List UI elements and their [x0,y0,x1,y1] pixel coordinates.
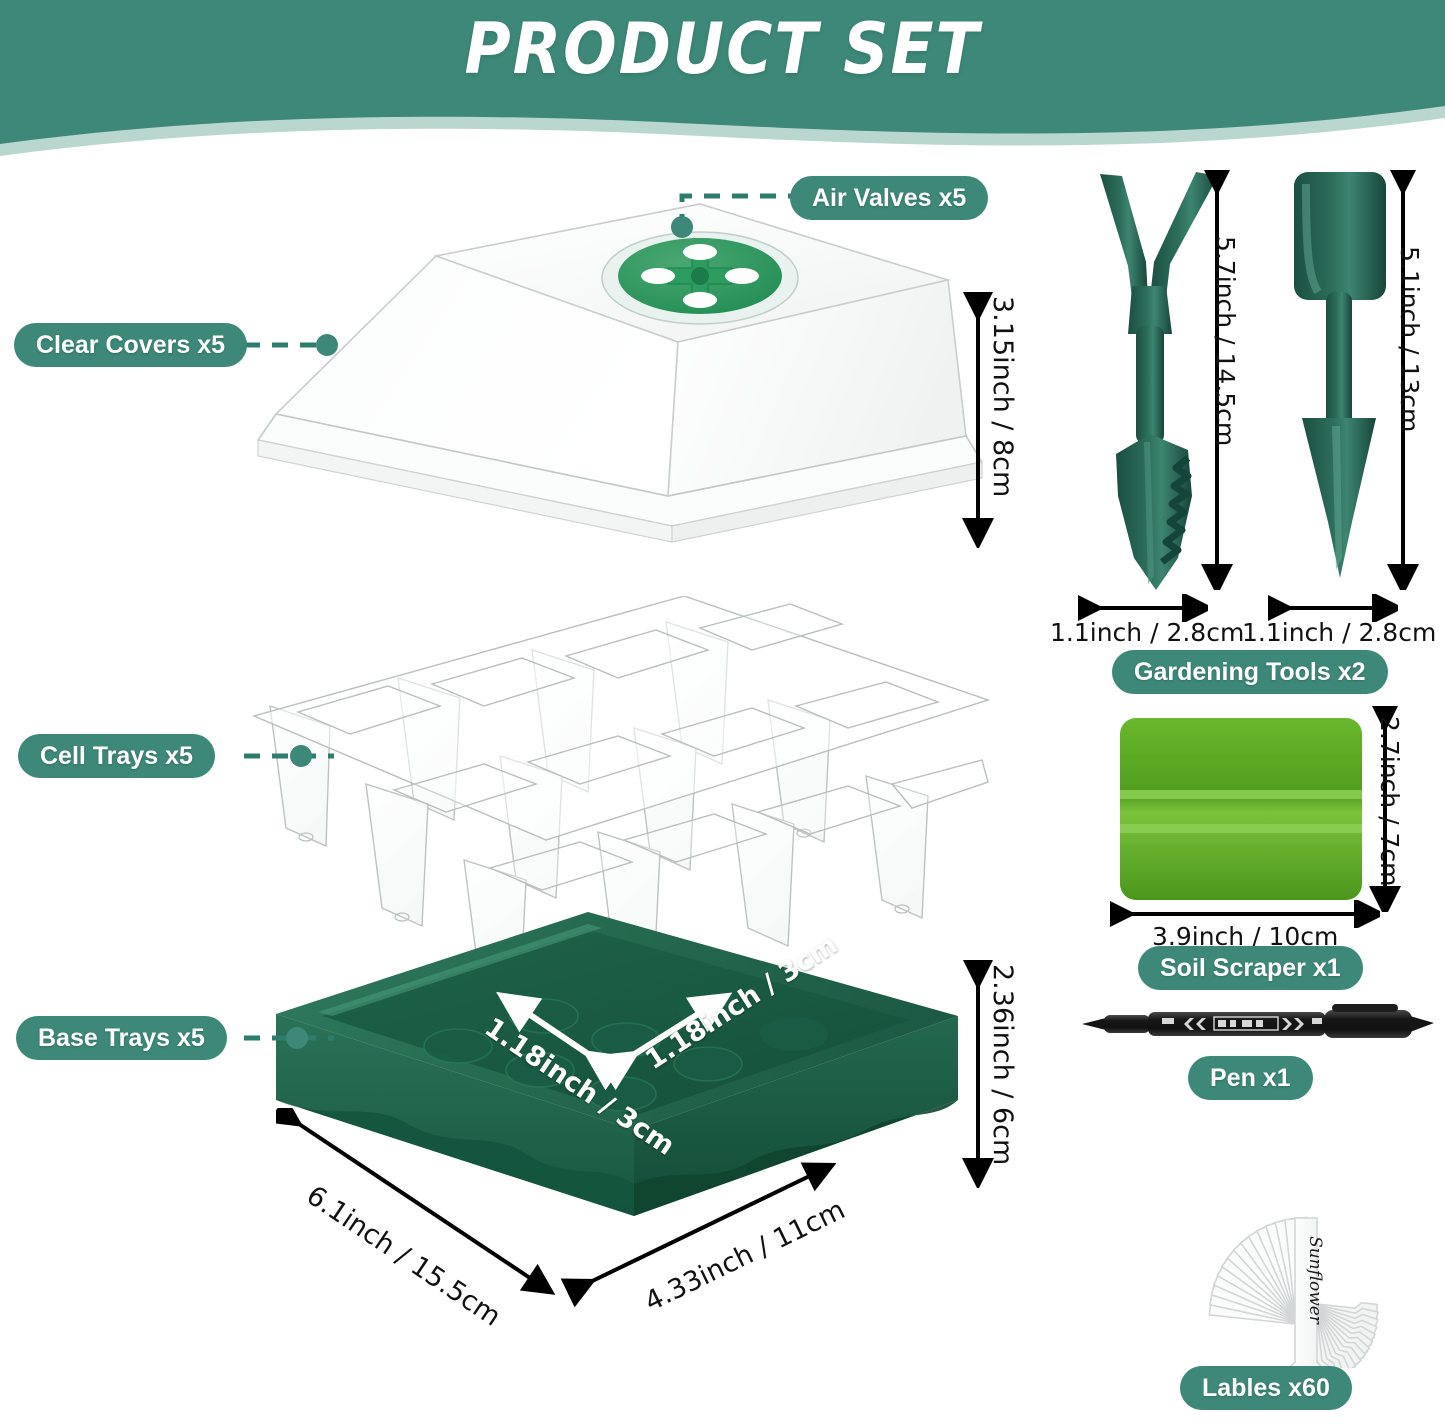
dimension-tool2-width: 1.1inch / 2.8cm [1242,618,1436,647]
dimension-tool1-height: 5.7inch / 14.5cm [1211,236,1240,446]
header-banner: PRODUCT SET [0,0,1445,180]
dibber-shaft [1326,292,1352,428]
anchor-dot-clear-covers [316,334,338,356]
scraper-ridge-upper [1120,790,1362,799]
callout-gardening-tools[interactable]: Gardening Tools x2 [1112,650,1388,694]
air-valve-hole-right [725,268,759,284]
air-valve-center-knob [691,267,709,285]
pen-illustration [1080,998,1440,1050]
pen-fine-tip [1082,1018,1106,1030]
pen-cap [1324,1010,1412,1038]
air-valve-hole-bottom [683,292,717,308]
air-valve-hole-left [641,268,675,284]
dimension-cover-height: 3.15inch / 8cm [987,296,1018,497]
soil-scraper-illustration [1116,714,1366,904]
callout-cell-trays[interactable]: Cell Trays x5 [18,734,215,778]
callout-labels[interactable]: Lables x60 [1180,1366,1352,1410]
callout-air-valves[interactable]: Air Valves x5 [790,176,988,220]
infographic-canvas: PRODUCT SET [0,0,1445,1426]
dimension-scraper-height: 2.7inch / 7cm [1375,716,1404,886]
anchor-dot-cell-trays [290,745,312,767]
leader-line-air-valves [676,186,806,236]
cell-opening [892,760,988,808]
pen-barrel [1148,1012,1326,1036]
clear-cover-illustration [248,196,988,616]
pen-fine-cap [1104,1015,1150,1033]
dimension-base-height: 2.36inch / 6cm [987,964,1018,1165]
dimension-tool2-height: 5.1inch / 13cm [1395,246,1424,432]
callout-clear-covers[interactable]: Clear Covers x5 [14,323,247,367]
label-stake-text: Sunflower [1305,1236,1325,1325]
label-stakes-fan: Sunflower [1094,1118,1394,1368]
weeder-fork-left [1100,174,1148,298]
scraper-body [1120,718,1362,900]
callout-soil-scraper[interactable]: Soil Scraper x1 [1138,946,1363,990]
page-title: PRODUCT SET [0,8,1445,90]
scraper-ridge-lower [1120,824,1362,833]
dimension-tool1-width: 1.1inch / 2.8cm [1050,618,1244,647]
label-stake-stack: Sunflower [1209,1217,1378,1368]
callout-base-trays[interactable]: Base Trays x5 [16,1016,227,1060]
pen-cap-end [1410,1016,1434,1032]
anchor-dot-base-trays [286,1027,308,1049]
pen-clip [1332,1004,1398,1012]
callout-pen[interactable]: Pen x1 [1188,1056,1313,1100]
weeder-handle [1136,326,1164,444]
anchor-dot-air-valves [671,216,693,238]
air-valve-hole-top [683,244,717,260]
